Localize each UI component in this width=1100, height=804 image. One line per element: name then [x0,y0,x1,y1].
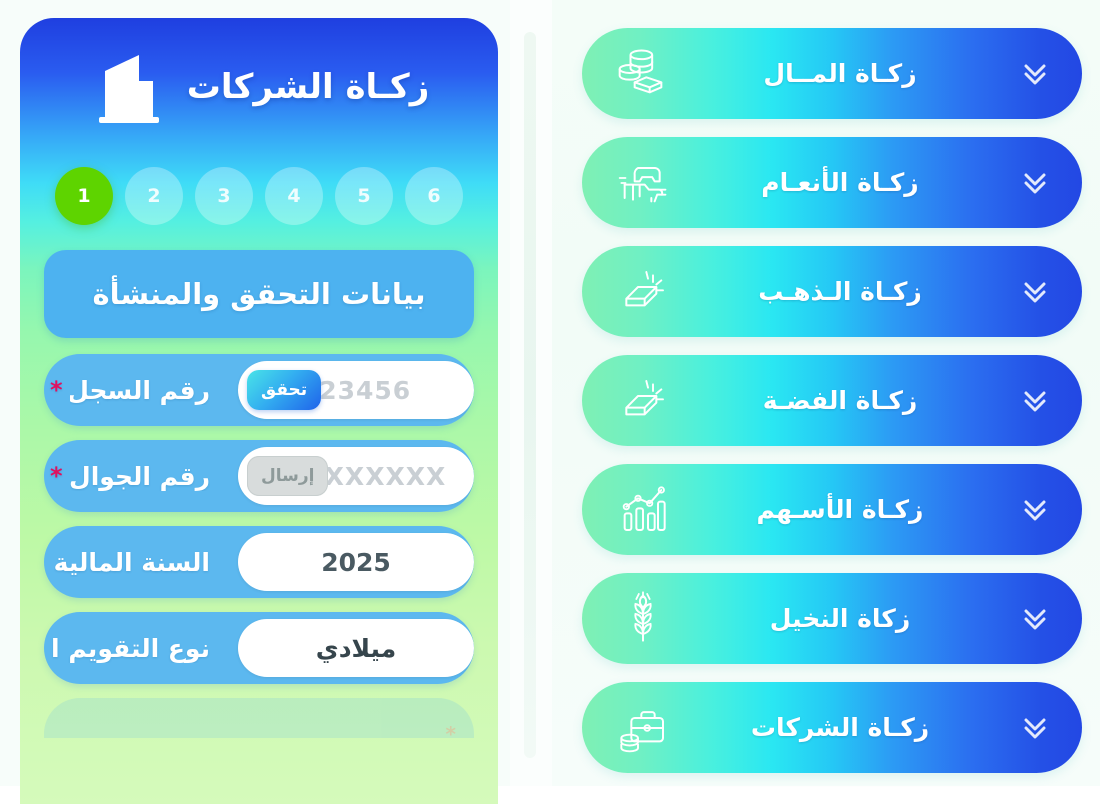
section-header-bar: بيانات التحقق والمنشأة [44,250,474,338]
zakat-category-item[interactable]: زكـاة المــال [582,28,1082,119]
zakat-category-item[interactable]: زكـاة الـذهـب [582,246,1082,337]
field-label-text: السنة المالية [54,548,210,577]
form-field-row: 5XXXXXXXXإرسالرقم الجوال* [44,440,474,512]
chevron-down-icon[interactable] [1014,707,1056,749]
zakat-category-row: زكـاة الـذهـب [582,246,1082,337]
step-circle-5[interactable]: 5 [335,167,393,225]
zakat-form-card: زكـاة الشركات 654321 بيانات التحقق والمن… [20,18,498,804]
field-value: ميلادي [316,634,396,663]
zakat-category-label: زكـاة المــال [674,59,1014,88]
cattle-icon [612,152,674,214]
field-label: السنة المالية [44,548,230,577]
zakat-category-row: زكـاة المــال [582,28,1082,119]
field-label: نوع التقويم المع [44,634,230,663]
chevron-down-icon[interactable] [1014,162,1056,204]
page-title: زكـاة الشركات [187,67,430,107]
zakat-category-row: زكـاة الفضـة [582,355,1082,446]
field-value: 2025 [321,548,391,577]
zakat-categories-panel: زكـاة المــالزكـاة الأنعـامزكـاة الـذهـب… [552,0,1100,786]
zakat-categories-list: زكـاة المــالزكـاة الأنعـامزكـاة الـذهـب… [582,28,1082,773]
step-circle-6[interactable]: 6 [405,167,463,225]
briefcase-coins-icon [612,697,674,759]
silver-bar-icon [612,370,674,432]
zakat-category-row: زكاة النخيل [582,573,1082,664]
zakat-category-item[interactable]: زكـاة الشركات [582,682,1082,773]
company-zakat-panel: زكـاة الشركات 654321 بيانات التحقق والمن… [0,0,510,786]
stocks-chart-icon [612,479,674,541]
divider-line [524,32,536,758]
required-marker-icon: * [50,378,63,402]
zakat-category-label: زكـاة الـذهـب [674,277,1014,306]
field-label-text: رقم السجل الت [70,376,210,405]
zakat-category-label: زكـاة الشركات [674,713,1014,742]
form-field-row: 123456تحققرقم السجل الت* [44,354,474,426]
zakat-category-label: زكـاة الأسـهم [674,495,1014,524]
field-input[interactable]: 5XXXXXXXXإرسال [238,447,474,505]
field-label-text: رقم الجوال [70,462,210,491]
chevron-down-icon[interactable] [1014,489,1056,531]
step-circle-3[interactable]: 3 [195,167,253,225]
building-icon [89,47,169,127]
chevron-down-icon[interactable] [1014,53,1056,95]
field-label: رقم السجل الت* [44,376,230,405]
gold-bar-icon [612,261,674,323]
zakat-category-row: زكـاة الأنعـام [582,137,1082,228]
required-marker-icon: * [50,464,63,488]
form-field-row: ميلادينوع التقويم المع [44,612,474,684]
chevron-down-icon[interactable] [1014,598,1056,640]
zakat-category-item[interactable]: زكـاة الأنعـام [582,137,1082,228]
zakat-category-item[interactable]: زكاة النخيل [582,573,1082,664]
step-circle-2[interactable]: 2 [125,167,183,225]
verify-button[interactable]: تحقق [247,370,321,410]
wheat-palm-icon [612,588,674,650]
required-marker-icon: * [446,722,456,738]
panel-divider [510,0,552,786]
form-card-header: زكـاة الشركات [38,18,480,148]
next-field-row-clipped[interactable]: * [44,698,474,738]
step-circle-1[interactable]: 1 [55,167,113,225]
form-field-row: 2025السنة المالية [44,526,474,598]
zakat-category-label: زكـاة الأنعـام [674,168,1014,197]
send-otp-button[interactable]: إرسال [247,456,328,496]
field-label-text: نوع التقويم المع [50,634,210,663]
zakat-category-item[interactable]: زكـاة الأسـهم [582,464,1082,555]
field-input[interactable]: 2025 [238,533,474,591]
step-circle-4[interactable]: 4 [265,167,323,225]
section-header-label: بيانات التحقق والمنشأة [93,277,426,311]
chevron-down-icon[interactable] [1014,380,1056,422]
form-fields-list: 123456تحققرقم السجل الت*5XXXXXXXXإرسالرق… [38,354,480,684]
chevron-down-icon[interactable] [1014,271,1056,313]
field-input[interactable]: 123456تحقق [238,361,474,419]
app-root: زكـاة المــالزكـاة الأنعـامزكـاة الـذهـب… [0,0,1100,786]
field-label: رقم الجوال* [44,462,230,491]
field-input[interactable]: ميلادي [238,619,474,677]
zakat-category-label: زكاة النخيل [674,604,1014,633]
zakat-category-label: زكـاة الفضـة [674,386,1014,415]
step-indicator: 654321 [38,148,480,240]
zakat-category-item[interactable]: زكـاة الفضـة [582,355,1082,446]
zakat-category-row: زكـاة الأسـهم [582,464,1082,555]
coins-money-icon [612,43,674,105]
zakat-category-row: زكـاة الشركات [582,682,1082,773]
